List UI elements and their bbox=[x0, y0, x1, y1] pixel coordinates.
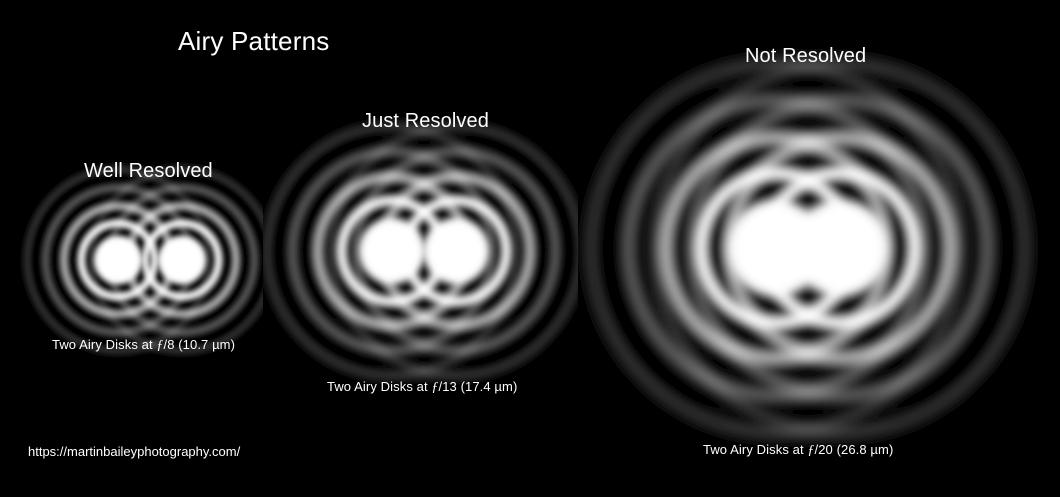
caption-suffix: /8 (10.7 µm) bbox=[164, 337, 236, 352]
airy-patterns-figure: Airy Patterns Well Resolved Just Resolve… bbox=[0, 0, 1060, 497]
f-number-glyph: ƒ bbox=[156, 338, 163, 353]
caption-prefix: Two Airy Disks at bbox=[703, 442, 807, 457]
f-number-glyph: ƒ bbox=[431, 380, 438, 395]
panel-heading-not-resolved: Not Resolved bbox=[745, 45, 866, 68]
caption-suffix: /20 (26.8 µm) bbox=[815, 442, 894, 457]
panel-caption-well-resolved: Two Airy Disks at ƒ/8 (10.7 µm) bbox=[52, 337, 235, 354]
caption-prefix: Two Airy Disks at bbox=[327, 379, 431, 394]
panel-heading-well-resolved: Well Resolved bbox=[84, 160, 213, 183]
source-url[interactable]: https://martinbaileyphotography.com/ bbox=[28, 444, 240, 459]
panel-caption-just-resolved: Two Airy Disks at ƒ/13 (17.4 µm) bbox=[327, 379, 517, 396]
f-number-glyph: ƒ bbox=[807, 443, 814, 458]
panel-heading-just-resolved: Just Resolved bbox=[362, 110, 489, 133]
panel-caption-not-resolved: Two Airy Disks at ƒ/20 (26.8 µm) bbox=[703, 442, 893, 459]
airy-pattern-not-resolved bbox=[578, 18, 1038, 478]
figure-title: Airy Patterns bbox=[178, 26, 329, 57]
caption-prefix: Two Airy Disks at bbox=[52, 337, 156, 352]
caption-suffix: /13 (17.4 µm) bbox=[439, 379, 518, 394]
